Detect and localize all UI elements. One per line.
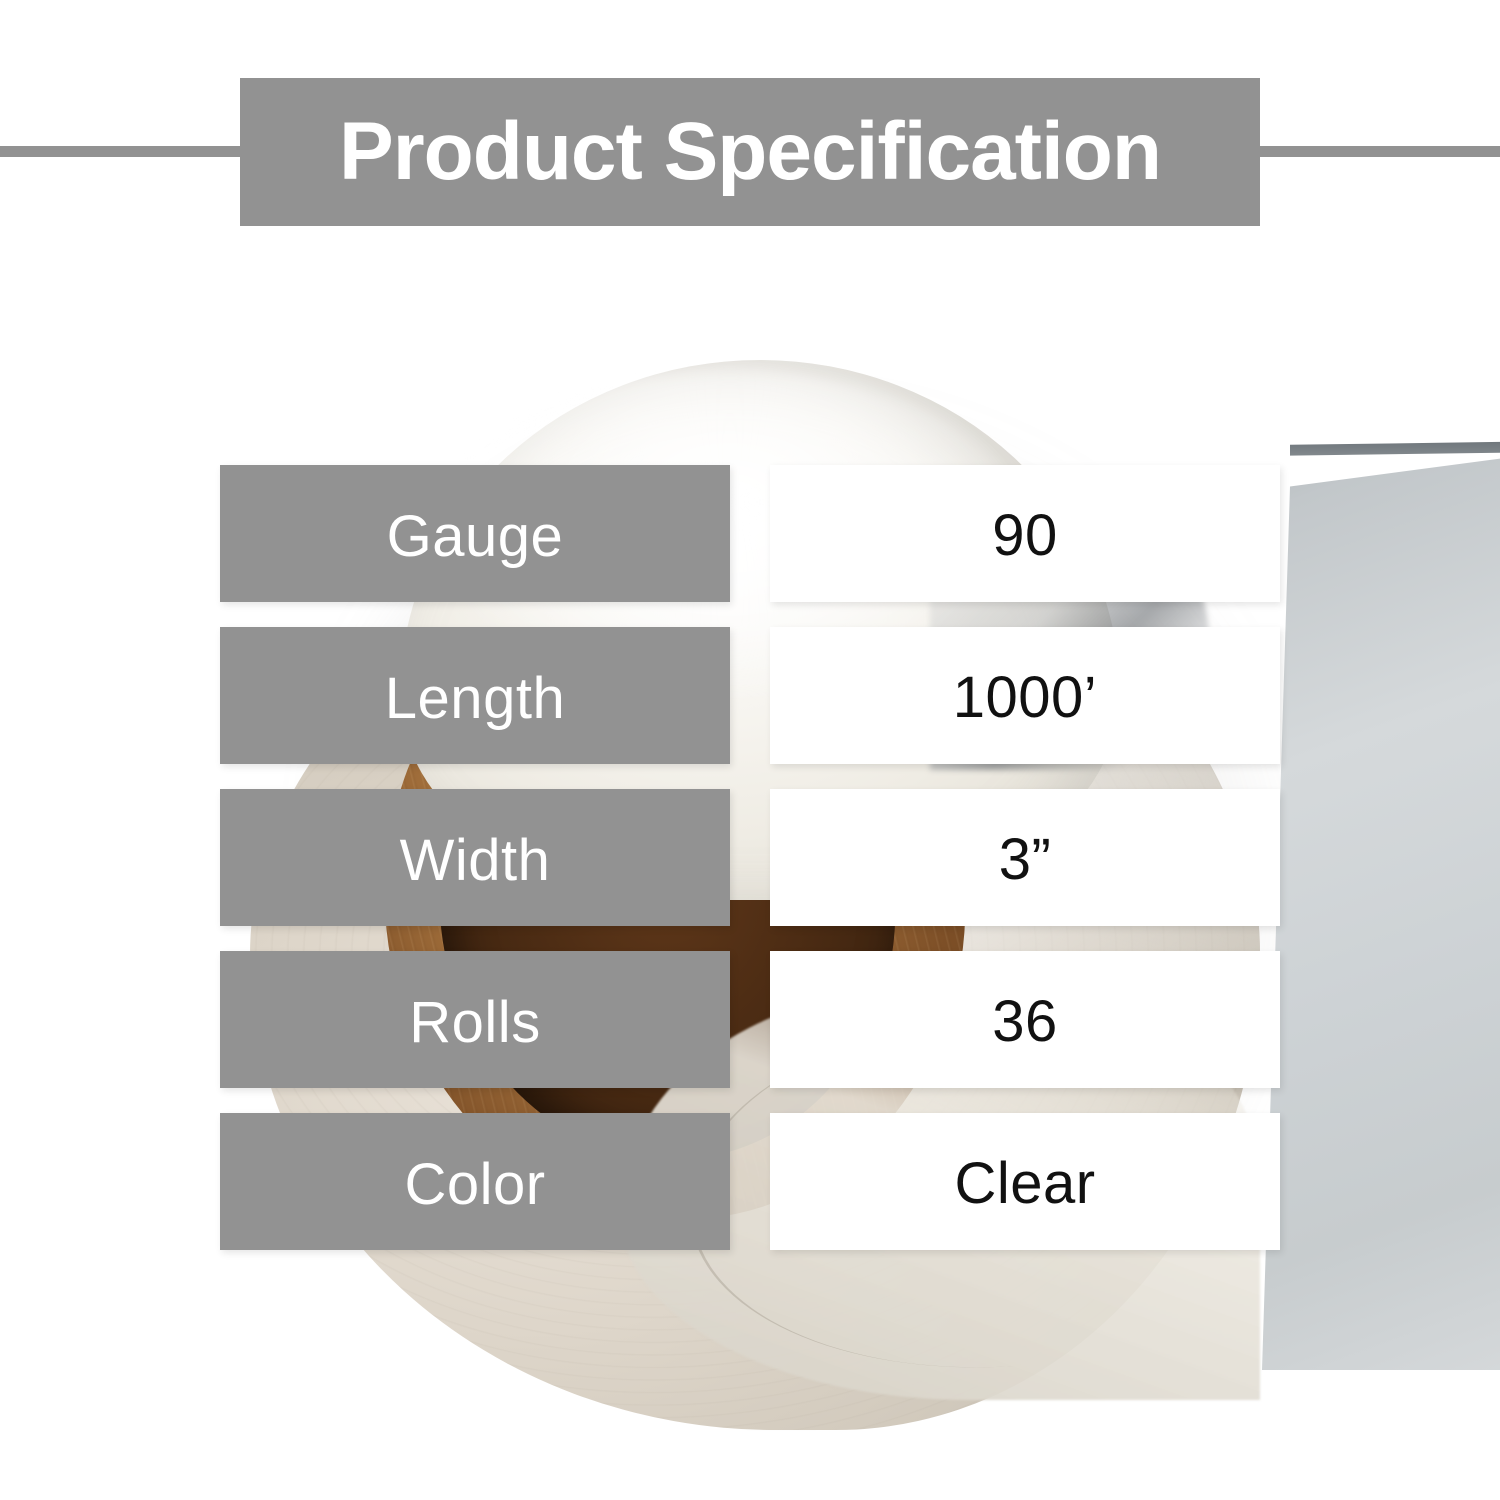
spec-label-cell: Width xyxy=(220,789,730,926)
spec-label-text: Color xyxy=(404,1156,545,1214)
table-row: Width 3” xyxy=(220,789,1280,926)
table-row: Rolls 36 xyxy=(220,951,1280,1088)
spec-value-cell: 3” xyxy=(770,789,1280,926)
table-row: Color Clear xyxy=(220,1113,1280,1250)
spec-label-cell: Color xyxy=(220,1113,730,1250)
table-row: Length 1000’ xyxy=(220,627,1280,764)
spec-label-cell: Rolls xyxy=(220,951,730,1088)
spec-value-text: 36 xyxy=(992,993,1058,1051)
spec-label-cell: Length xyxy=(220,627,730,764)
spec-label-cell: Gauge xyxy=(220,465,730,602)
product-spec-page: Product Specification Gauge 90 Len xyxy=(0,0,1500,1500)
spec-value-cell: Clear xyxy=(770,1113,1280,1250)
spec-value-text: 3” xyxy=(999,831,1052,889)
spec-value-text: 90 xyxy=(992,507,1058,565)
spec-value-text: 1000’ xyxy=(953,669,1097,727)
specification-table: Gauge 90 Length 1000’ Width 3” Roll xyxy=(0,0,1500,1500)
spec-value-cell: 90 xyxy=(770,465,1280,602)
spec-value-cell: 1000’ xyxy=(770,627,1280,764)
spec-value-text: Clear xyxy=(954,1155,1095,1213)
spec-value-cell: 36 xyxy=(770,951,1280,1088)
spec-label-text: Gauge xyxy=(387,508,564,566)
spec-label-text: Rolls xyxy=(409,994,540,1052)
table-row: Gauge 90 xyxy=(220,465,1280,602)
spec-label-text: Length xyxy=(385,670,565,728)
spec-label-text: Width xyxy=(400,832,551,890)
